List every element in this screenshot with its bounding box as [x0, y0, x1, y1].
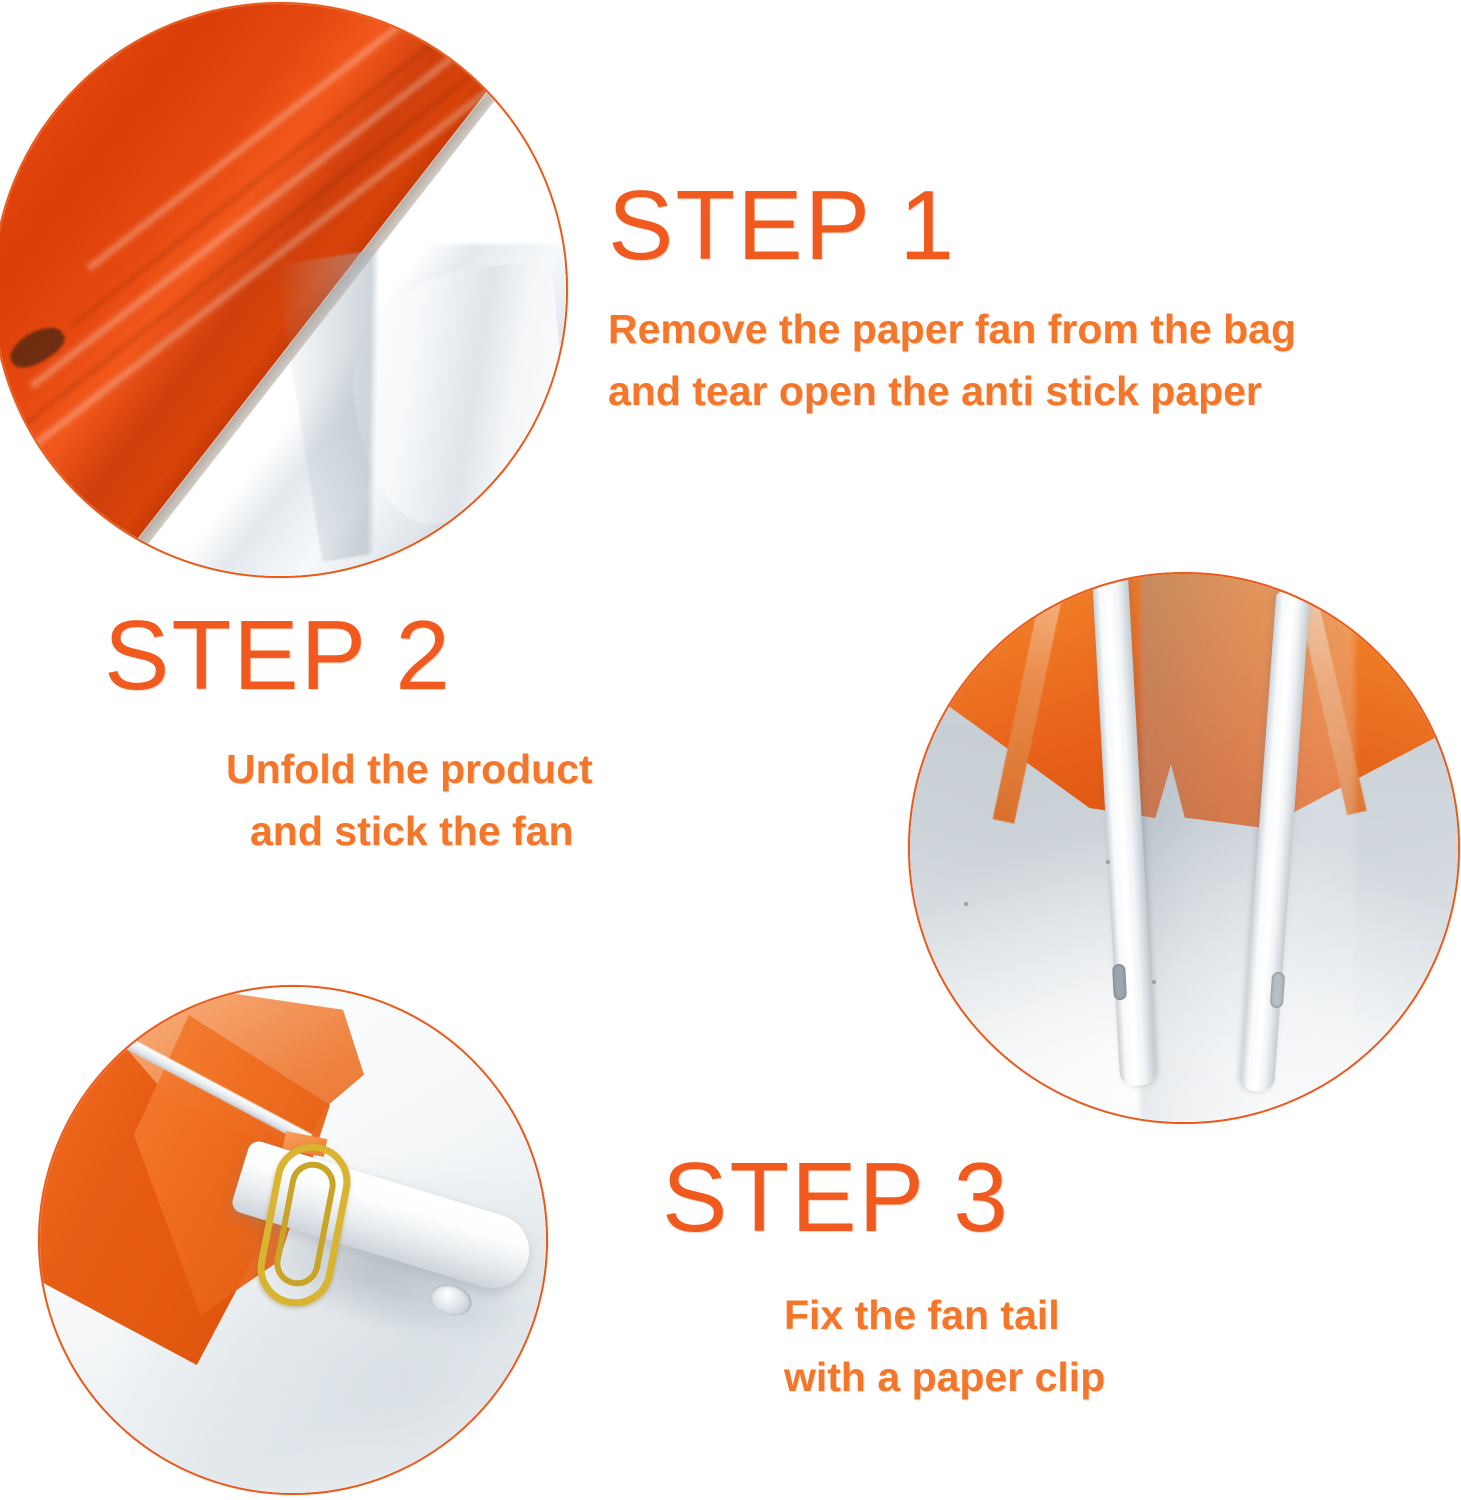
- step-1-line-1: Remove the paper fan from the bag: [608, 298, 1296, 360]
- step-2-line-2: and stick the fan: [226, 800, 593, 862]
- step-3-line-2: with a paper clip: [784, 1346, 1105, 1408]
- step-1-line-2: and tear open the anti stick paper: [608, 360, 1296, 422]
- step-3-description: Fix the fan tail with a paper clip: [662, 1284, 1105, 1409]
- photo-step1-content: [0, 2, 568, 578]
- step-3-text-block: STEP 3 Fix the fan tail with a paper cli…: [662, 1148, 1105, 1409]
- folded-paper-fan-in-bag-photo: [0, 2, 568, 578]
- step-1-title: STEP 1: [608, 176, 1296, 274]
- step-2-line-1: Unfold the product: [226, 738, 593, 800]
- step-2-text-block: STEP 2 Unfold the product and stick the …: [104, 606, 593, 863]
- photo-step2-content: [908, 572, 1460, 1124]
- tail-hole-left: [1112, 964, 1127, 1001]
- step-3-line-1: Fix the fan tail: [784, 1284, 1105, 1346]
- surface-speck: [1106, 860, 1110, 864]
- step-1-text-block: STEP 1 Remove the paper fan from the bag…: [608, 176, 1296, 423]
- step-1-description: Remove the paper fan from the bag and te…: [608, 298, 1296, 423]
- photo-step3-content: [38, 985, 548, 1495]
- tail-hole-right: [1270, 972, 1285, 1009]
- step-3-title: STEP 3: [662, 1148, 1105, 1246]
- unfolded-fan-white-tails-photo: [908, 572, 1460, 1124]
- step-2-description: Unfold the product and stick the fan: [104, 738, 593, 863]
- surface-speck: [1152, 980, 1156, 984]
- surface-speck: [964, 902, 968, 906]
- instruction-sheet: STEP 1 Remove the paper fan from the bag…: [0, 0, 1461, 1500]
- step-2-title: STEP 2: [104, 606, 593, 704]
- fan-tail-with-paper-clip-photo: [38, 985, 548, 1495]
